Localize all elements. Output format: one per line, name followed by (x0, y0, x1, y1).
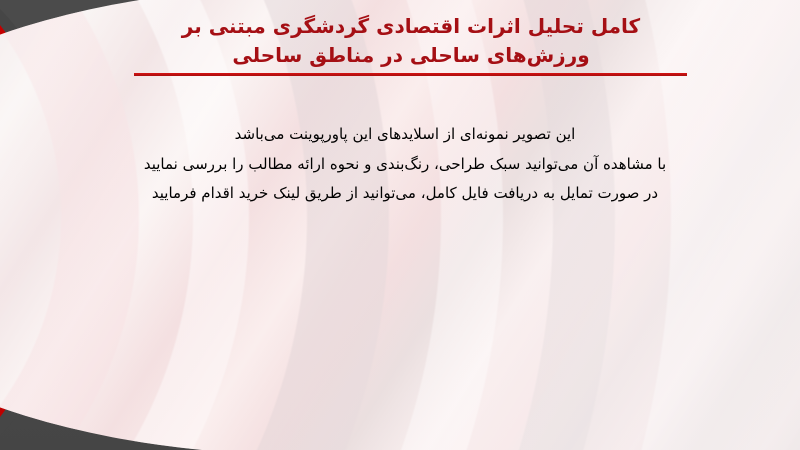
slide-title-line-1: کامل تحلیل اثرات اقتصادی گردشگری مبتنی ب… (130, 12, 692, 41)
presentation-slide: کامل تحلیل اثرات اقتصادی گردشگری مبتنی ب… (0, 0, 800, 450)
slide-body-line-2: با مشاهده آن می‌توانید سبک طراحی، رنگ‌بن… (110, 150, 700, 180)
title-underline-rule (134, 73, 687, 76)
slide-body-line-1: این تصویر نمونه‌ای از اسلایدهای این پاور… (110, 120, 700, 150)
slide-title-line-2: ورزش‌های ساحلی در مناطق ساحلی (130, 41, 692, 70)
slide-title: کامل تحلیل اثرات اقتصادی گردشگری مبتنی ب… (130, 12, 692, 70)
slide-content: کامل تحلیل اثرات اقتصادی گردشگری مبتنی ب… (0, 0, 800, 450)
slide-body-line-3: در صورت تمایل به دریافت فایل کامل، می‌تو… (110, 179, 700, 209)
slide-body: این تصویر نمونه‌ای از اسلایدهای این پاور… (110, 120, 700, 209)
